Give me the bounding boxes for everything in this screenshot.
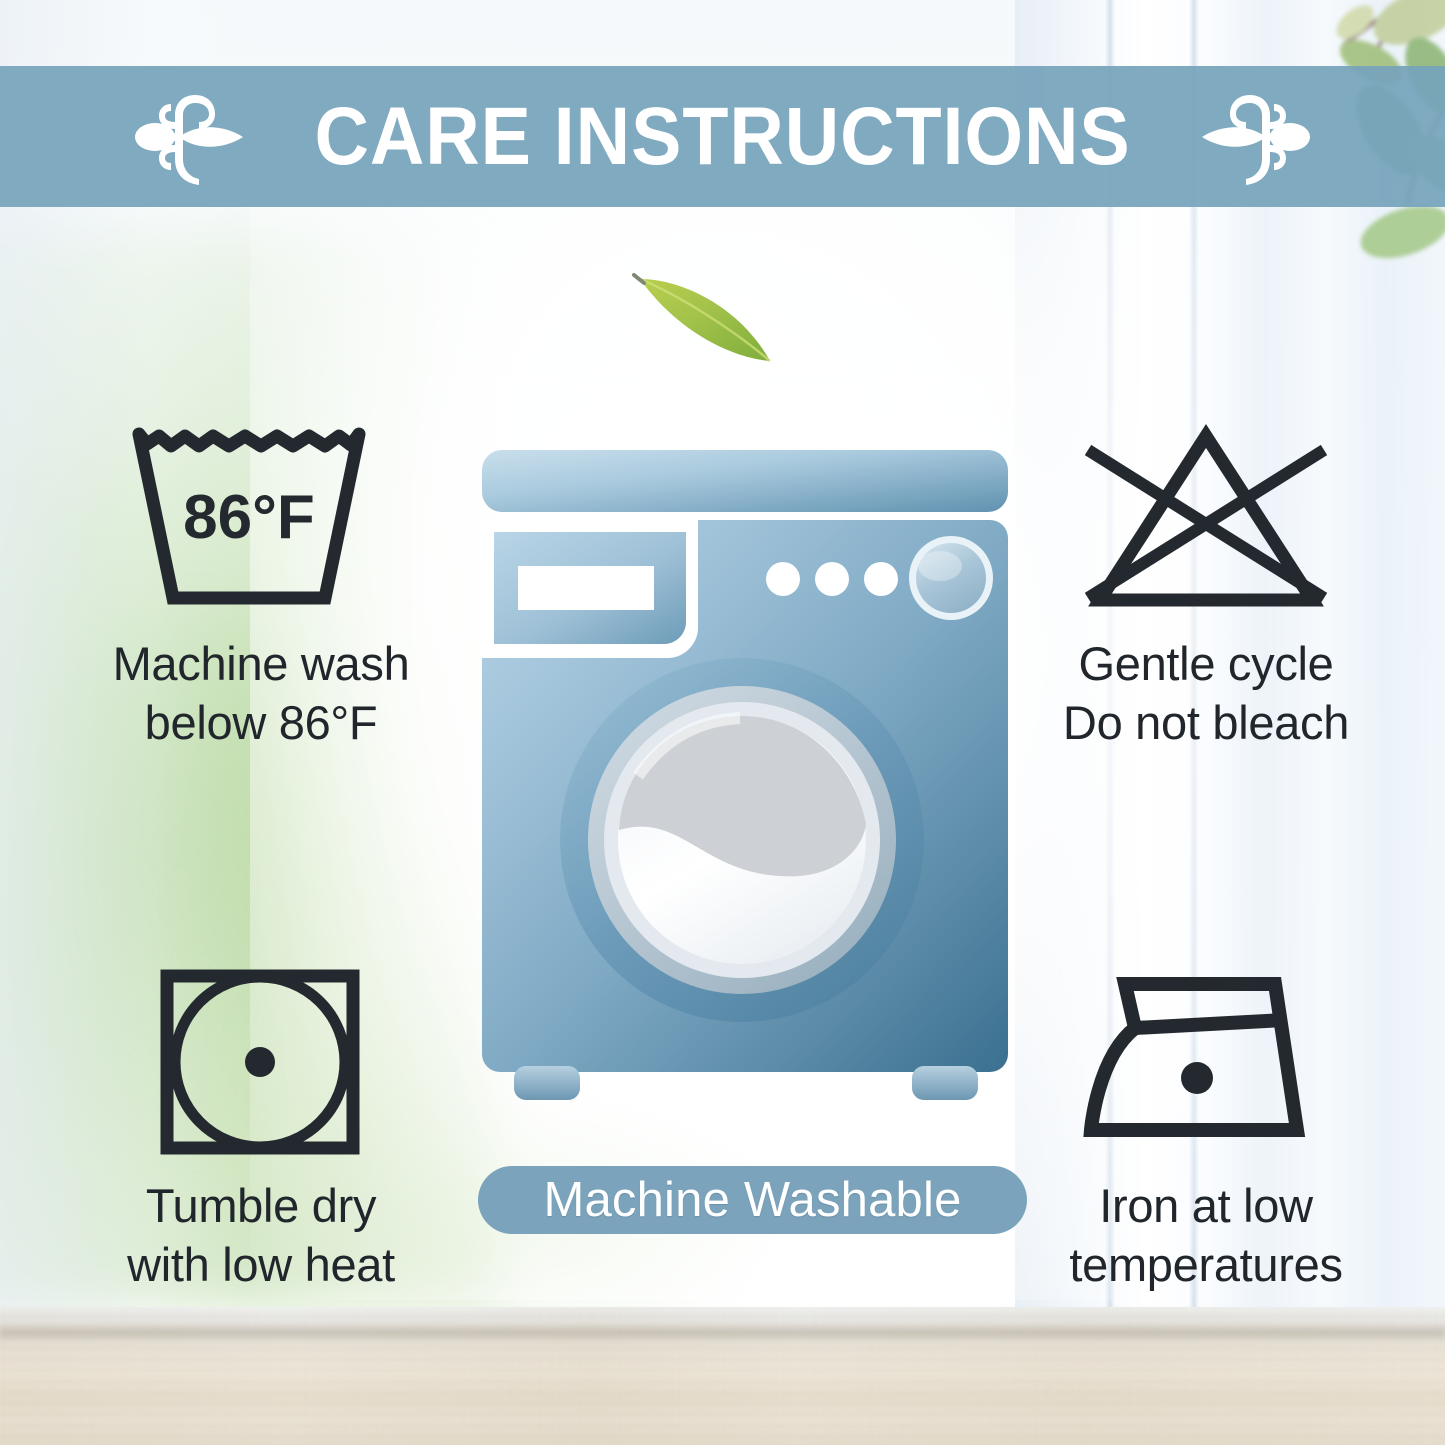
- care-symbol-tumble-dry: Tumble drywith low heat: [46, 962, 476, 1294]
- triangle-crossed-out-icon: [1056, 420, 1356, 620]
- washer-indicator-light-1: [766, 562, 800, 596]
- machine-washable-label: Machine Washable: [543, 1176, 961, 1225]
- washer-drawer-slot: [518, 566, 654, 610]
- care-symbol-machine-wash: 86°F Machine washbelow 86°F: [46, 420, 476, 752]
- care-symbol-caption-iron: Iron at lowtemperatures: [991, 1176, 1421, 1294]
- washer-indicator-light-3: [864, 562, 898, 596]
- machine-washable-badge: Machine Washable: [478, 1166, 1027, 1234]
- fleur-de-lis-icon-right: [1192, 89, 1312, 185]
- wash-tub-icon: 86°F: [111, 420, 411, 620]
- page-title: CARE INSTRUCTIONS: [290, 96, 1154, 178]
- iron-heat-dot: [1181, 1062, 1213, 1094]
- iron-icon: [1061, 962, 1351, 1162]
- fleur-de-lis-icon: [133, 89, 253, 185]
- floating-leaf-icon: [630, 265, 780, 375]
- washing-machine-illustration: [470, 440, 1020, 1120]
- washer-foot-right: [912, 1066, 978, 1100]
- care-symbol-iron: Iron at lowtemperatures: [991, 962, 1421, 1294]
- care-symbol-do-not-bleach: Gentle cycleDo not bleach: [991, 420, 1421, 752]
- wood-table-edge: [0, 1325, 1445, 1341]
- washer-knob-highlight: [918, 551, 962, 581]
- care-symbol-caption-bleach: Gentle cycleDo not bleach: [991, 634, 1421, 752]
- care-symbol-caption-dry: Tumble drywith low heat: [46, 1176, 476, 1294]
- washer-foot-left: [514, 1066, 580, 1100]
- wash-temperature-value: 86°F: [183, 483, 315, 552]
- tumble-dry-heat-dot: [245, 1047, 275, 1077]
- care-instructions-banner: CARE INSTRUCTIONS: [0, 66, 1445, 207]
- washer-indicator-light-2: [815, 562, 849, 596]
- washer-top-panel: [482, 450, 1008, 512]
- tumble-dry-square-circle-icon: [141, 962, 381, 1162]
- care-symbol-caption-wash: Machine washbelow 86°F: [46, 634, 476, 752]
